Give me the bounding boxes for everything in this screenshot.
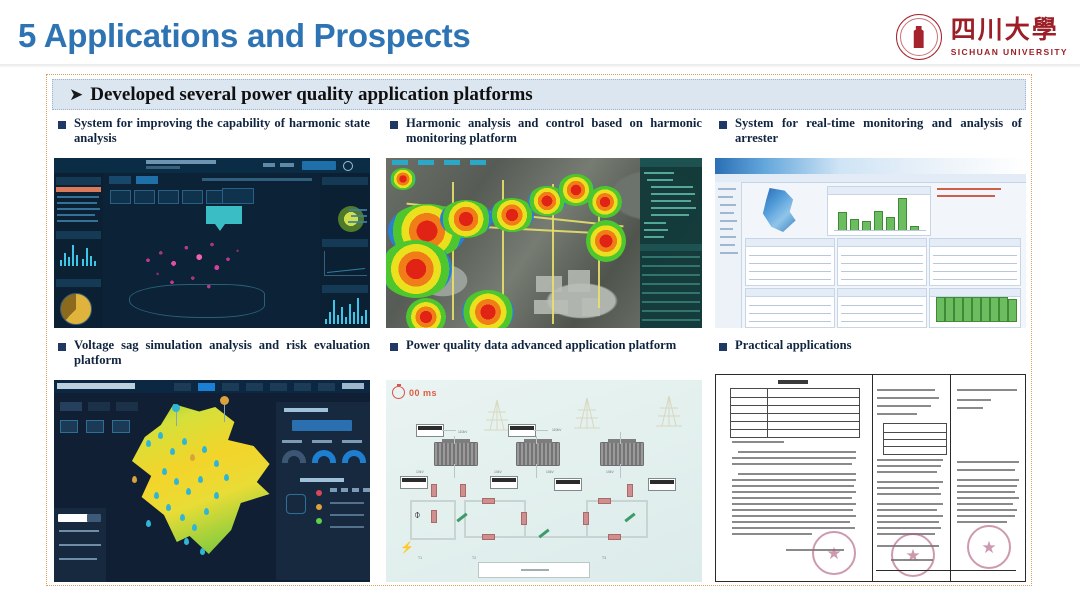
card-heading: Power quality data advanced application …: [406, 338, 676, 353]
nav-tab[interactable]: [294, 383, 311, 391]
status-dot-red: [316, 490, 322, 496]
panel-list-row: [57, 214, 95, 216]
layer-tree-item[interactable]: [651, 193, 695, 195]
terrain-choropleth-map: [116, 404, 276, 554]
user-account-label[interactable]: [342, 383, 364, 389]
heatmap-hotspot: [406, 298, 446, 328]
app-header-banner: [715, 158, 1026, 174]
mini-bar-chart: [58, 240, 100, 266]
card-header: System for improving the capability of h…: [52, 114, 374, 150]
square-bullet-icon: [390, 121, 398, 129]
fault-indicator-icon: ⚡: [400, 543, 414, 554]
map-pin-icon: [220, 396, 229, 405]
red-official-seal: ★: [967, 525, 1011, 569]
sichuan-university-emblem-icon: [896, 14, 942, 60]
mini-table-row: [330, 502, 364, 504]
metric-chip: [110, 190, 131, 204]
building-footprint: [568, 270, 590, 292]
line-chart: [324, 251, 367, 276]
busbar: [646, 500, 648, 538]
metric-chip: [182, 190, 203, 204]
card-heading: System for improving the capability of h…: [74, 116, 370, 146]
panel-title-trend: [322, 239, 368, 247]
mini-table-header: [330, 488, 370, 492]
alert-note: [937, 188, 1011, 204]
result-table-row[interactable]: [642, 265, 700, 267]
university-logo: 四川大學 SICHUAN UNIVERSITY: [896, 14, 1068, 60]
left-tree-panel: [715, 182, 742, 328]
layer-tree-item[interactable]: [651, 214, 689, 216]
pylon-icon: [654, 394, 684, 428]
table-panel: [837, 288, 927, 328]
panel-title: [746, 289, 834, 297]
circuit-breaker: [482, 534, 495, 540]
disconnect-switch: [456, 513, 467, 523]
circuit-breaker: [598, 498, 611, 504]
primary-action-button[interactable]: [292, 420, 352, 431]
filter-button-row[interactable]: [60, 402, 138, 411]
card-header: Practical applications: [713, 336, 1026, 357]
legend-box: [222, 188, 254, 204]
card-harmonic-monitoring-platform: Harmonic analysis and control based on h…: [384, 114, 706, 332]
legend-box: [478, 562, 590, 578]
layer-tree-item[interactable]: [644, 222, 666, 224]
red-official-seal: ★: [812, 531, 856, 575]
busbar: [586, 500, 648, 502]
nav-tabs[interactable]: [174, 383, 335, 391]
arrow-bullet-icon: ➤: [69, 86, 83, 103]
app-subtitle-text: [146, 166, 180, 169]
mini-table-row: [330, 514, 364, 516]
status-ticker: [202, 178, 312, 181]
circuit-breaker: [431, 510, 437, 523]
tab-bar[interactable]: [109, 176, 158, 184]
nav-tab[interactable]: [174, 383, 191, 391]
app-menu-bar[interactable]: [715, 174, 1026, 183]
heatmap-hotspot: [440, 200, 492, 238]
left-side-panel: [54, 173, 103, 328]
pq-meter-icon: [400, 476, 428, 489]
circuit-breaker: [431, 484, 437, 497]
topbar-primary-button[interactable]: [302, 161, 336, 170]
right-side-panel: [320, 173, 370, 328]
app-title-text: [146, 160, 216, 164]
panel-title-chart: [56, 231, 101, 239]
gauge-1: [282, 450, 306, 463]
result-table-row[interactable]: [642, 292, 700, 294]
status-dot-green: [316, 518, 322, 524]
square-bullet-icon: [719, 121, 727, 129]
stopwatch-icon: [392, 386, 405, 399]
mini-table-row: [330, 526, 364, 528]
circuit-breaker: [608, 534, 621, 540]
logo-english-name: SICHUAN UNIVERSITY: [951, 47, 1068, 57]
screenshot-certificate-documents: ★: [715, 374, 1026, 582]
gear-icon[interactable]: [343, 161, 353, 171]
result-row[interactable]: [59, 558, 97, 560]
card-pq-data-platform: Power quality data advanced application …: [384, 336, 706, 582]
result-table-row[interactable]: [642, 256, 700, 258]
panel-title-histogram: [322, 285, 368, 293]
panel-title: [838, 239, 926, 247]
topbar-link-2[interactable]: [263, 163, 275, 167]
disconnect-switch: [624, 513, 635, 523]
building-footprint: [536, 276, 562, 292]
simulation-timer: 00 ms: [392, 386, 437, 399]
panel-title: [828, 187, 930, 195]
screenshot-light-statistics-dashboard: [715, 158, 1026, 328]
legend-row: [351, 215, 367, 217]
province-map: [757, 188, 799, 232]
panel-highlight-row: [56, 187, 101, 192]
busbar: [464, 536, 548, 538]
heatmap-hotspot: [462, 290, 514, 328]
metric-chip: [158, 190, 179, 204]
layer-tree-item[interactable]: [651, 186, 693, 188]
card-arrester-monitoring: System for real-time monitoring and anal…: [713, 114, 1026, 332]
page-title: 5 Applications and Prospects: [18, 17, 471, 55]
card-header: Voltage sag simulation analysis and risk…: [52, 336, 374, 372]
torch-icon: [912, 26, 925, 48]
statistics-panel: [276, 402, 370, 580]
title-divider: [0, 64, 1080, 67]
card-heading: Harmonic analysis and control based on h…: [406, 116, 702, 146]
result-table-row[interactable]: [642, 274, 700, 276]
panel-list-row: [57, 220, 98, 222]
table-panel: [745, 288, 835, 328]
transformer-icon: [600, 442, 644, 466]
circuit-breaker: [627, 484, 633, 497]
legend-swatch-row: [60, 420, 130, 433]
document-footer-rule: [876, 570, 1016, 571]
nav-tab[interactable]: [246, 383, 263, 391]
square-bullet-icon: [719, 343, 727, 351]
map-pin-icon: [172, 404, 180, 412]
busbar: [410, 500, 412, 540]
card-header: Harmonic analysis and control based on h…: [384, 114, 706, 150]
transformer-icon: [434, 442, 478, 466]
card-heading: System for real-time monitoring and anal…: [735, 116, 1022, 146]
layer-tree-item[interactable]: [647, 179, 673, 181]
section-banner-text: Developed several power quality applicat…: [90, 84, 532, 106]
panel-title-compass: [56, 279, 101, 287]
pq-meter-icon: [416, 424, 444, 437]
pylon-icon: [572, 396, 602, 430]
load-symbol: ⌽: [414, 510, 421, 521]
card-header: System for real-time monitoring and anal…: [713, 114, 1026, 150]
transformer-icon: [516, 442, 560, 466]
presentation-slide: 5 Applications and Prospects 四川大學 SICHUA…: [0, 0, 1080, 608]
histogram-chart: [324, 294, 368, 324]
result-row[interactable]: [59, 544, 101, 546]
panel-list-row: [57, 208, 100, 210]
document-title: [778, 380, 808, 384]
layer-tree-item[interactable]: [651, 200, 691, 202]
card-header: Power quality data advanced application …: [384, 336, 706, 357]
nav-tab[interactable]: [318, 383, 335, 391]
topbar-link-1[interactable]: [280, 163, 294, 167]
sub-table: [883, 423, 947, 455]
square-bullet-icon: [58, 121, 66, 129]
nav-tab-active[interactable]: [198, 383, 215, 391]
result-table-row[interactable]: [642, 319, 700, 321]
table-panel: [837, 238, 927, 286]
busbar: [410, 538, 456, 540]
status-dot-orange: [316, 504, 322, 510]
legend-row: [348, 221, 367, 223]
layer-tree-item[interactable]: [644, 172, 674, 174]
card-heading: Practical applications: [735, 338, 851, 353]
table-panel: [745, 238, 835, 286]
building-footprint: [534, 300, 568, 314]
certificate-document-1: ★: [716, 375, 872, 581]
panel-subtitle: [300, 478, 344, 482]
pq-meter-icon: [508, 424, 536, 437]
legend-row: [349, 209, 367, 211]
card-harmonic-state-analysis: System for improving the capability of h…: [52, 114, 374, 332]
result-table-row[interactable]: [642, 283, 700, 285]
nav-tab[interactable]: [270, 383, 287, 391]
layer-panel: [640, 158, 702, 328]
card-practical-applications: Practical applications: [713, 336, 1026, 582]
timer-value: 00 ms: [409, 388, 437, 398]
screenshot-dark-gis-terrain-map: [54, 380, 370, 582]
platform-title-text: [57, 383, 135, 389]
pq-meter-icon: [554, 478, 582, 491]
panel-title: [746, 239, 834, 247]
panel-title: [930, 239, 1020, 247]
square-bullet-icon: [390, 343, 398, 351]
gauge-3: [342, 450, 366, 463]
panel-list-row: [57, 202, 97, 204]
network-topology-map: [116, 213, 276, 318]
panel-list-row: [57, 196, 99, 198]
heatmap-hotspot: [588, 186, 622, 218]
card-voltage-sag-platform: Voltage sag simulation analysis and risk…: [52, 336, 374, 582]
tab-2-active[interactable]: [136, 176, 158, 184]
heatmap-hotspot: [390, 168, 416, 190]
result-table-row[interactable]: [642, 310, 700, 312]
card-heading: Voltage sag simulation analysis and risk…: [74, 338, 370, 368]
section-banner: ➤ Developed several power quality applic…: [52, 79, 1026, 110]
info-table: [730, 388, 860, 438]
result-table-row[interactable]: [642, 301, 700, 303]
layer-tree-item[interactable]: [644, 236, 664, 238]
square-bullet-icon: [58, 343, 66, 351]
heatmap-hotspot: [586, 220, 626, 262]
node-icon: [286, 494, 306, 514]
screenshot-dark-network-topology-dashboard: [54, 158, 370, 328]
certificate-document-3: ★: [950, 375, 1025, 581]
circuit-breaker: [482, 498, 495, 504]
circuit-breaker: [521, 512, 527, 525]
cards-grid: System for improving the capability of h…: [52, 114, 1026, 582]
panel-title: [838, 289, 926, 297]
pq-meter-icon: [648, 478, 676, 491]
circuit-breaker: [460, 484, 466, 497]
certificate-document-2: ★: [872, 375, 951, 581]
busbar: [464, 500, 466, 538]
gauge-2: [312, 450, 336, 463]
busbar: [464, 500, 526, 502]
result-row[interactable]: [59, 530, 99, 532]
nav-tab[interactable]: [222, 383, 239, 391]
layer-tree-item[interactable]: [651, 207, 696, 209]
bar-chart-panel: [827, 186, 931, 236]
logo-chinese-name: 四川大學: [951, 18, 1068, 43]
table-panel: [929, 238, 1021, 286]
circuit-breaker: [583, 512, 589, 525]
panel-title: [284, 408, 328, 412]
metric-chip: [134, 190, 155, 204]
layer-panel-title: [640, 158, 702, 167]
result-table-header: [640, 244, 702, 251]
busbar: [410, 500, 456, 502]
panel-title: [930, 289, 1020, 297]
pq-meter-icon: [490, 476, 518, 489]
screenshot-single-line-diagram: 00 ms: [386, 380, 702, 582]
pie-chart: [60, 293, 92, 325]
panel-title-gauge: [322, 177, 368, 185]
search-results-panel: [54, 508, 106, 582]
search-button[interactable]: [87, 514, 101, 522]
map-toolbar[interactable]: [392, 160, 486, 165]
bar-chart-panel: [929, 288, 1021, 328]
screenshot-satellite-heatmap-gis: [386, 158, 702, 328]
layer-tree-item[interactable]: [644, 229, 668, 231]
tab-1[interactable]: [109, 176, 131, 184]
panel-title-alert-list: [56, 177, 101, 185]
